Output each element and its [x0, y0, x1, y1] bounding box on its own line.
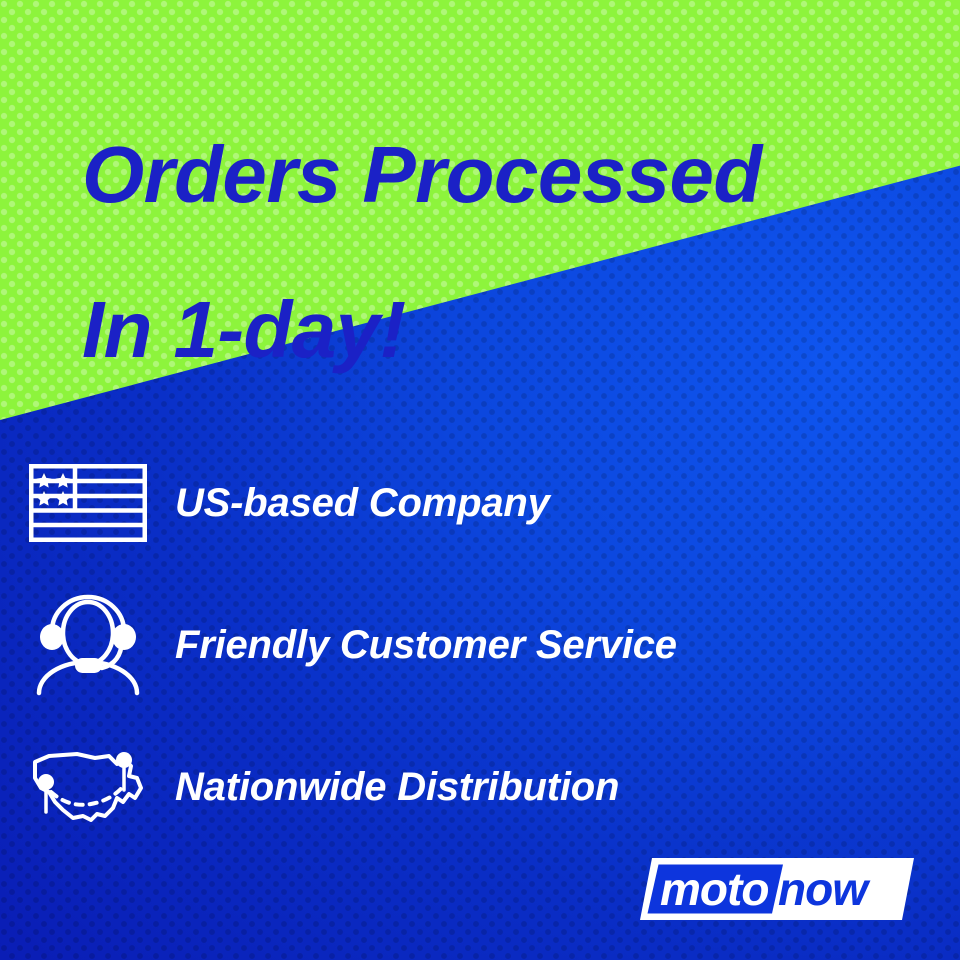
promo-banner: Orders Processed In 1-day!: [0, 0, 960, 960]
svg-text:moto: moto: [660, 863, 768, 915]
us-map-pins-icon: [0, 744, 175, 830]
feature-label-us-based: US-based Company: [175, 481, 550, 526]
headset-support-icon: [0, 593, 175, 697]
feature-item-us-based: US-based Company: [0, 432, 960, 574]
feature-label-customer-service: Friendly Customer Service: [175, 623, 677, 668]
motonow-logo[interactable]: moto now: [638, 856, 916, 922]
us-flag-icon: [0, 464, 175, 542]
svg-text:now: now: [778, 863, 871, 915]
headline-line-1: Orders Processed: [82, 136, 922, 214]
headline-line-2: In 1-day!: [82, 291, 922, 369]
feature-label-nationwide: Nationwide Distribution: [175, 765, 619, 810]
feature-item-nationwide: Nationwide Distribution: [0, 716, 960, 858]
headline: Orders Processed In 1-day!: [82, 58, 922, 446]
feature-item-customer-service: Friendly Customer Service: [0, 574, 960, 716]
feature-list: US-based Company: [0, 432, 960, 858]
